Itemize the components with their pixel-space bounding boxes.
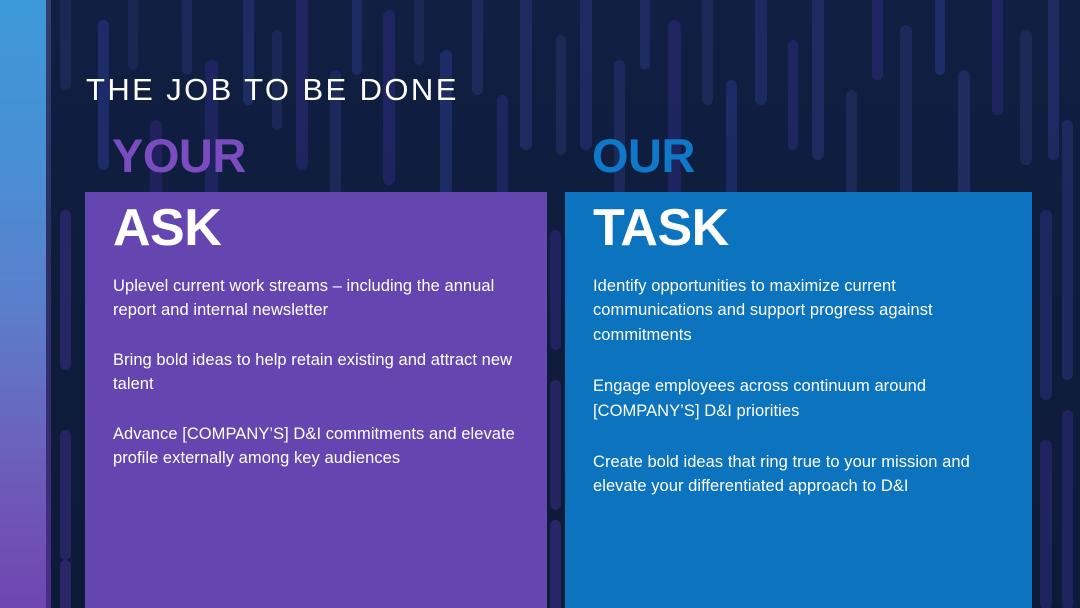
background-bar [497,95,508,200]
list-item: Bring bold ideas to help retain existing… [113,348,531,397]
background-bar [1062,120,1073,380]
background-bar [60,560,71,608]
task-bullet-list: Identify opportunities to maximize curre… [593,274,1016,526]
background-bar [550,230,561,350]
background-bar [182,0,192,75]
background-bar [556,35,566,155]
background-bar [128,0,138,70]
ask-bullet-list: Uplevel current work streams – including… [113,274,531,470]
background-bar [580,0,592,150]
background-bar [702,0,713,105]
left-brand-sidebar [0,0,46,608]
background-bar [1048,0,1059,160]
background-bar [640,0,650,70]
background-bar [352,0,362,75]
list-item: Advance [COMPANY’S] D&I commitments and … [113,422,531,471]
ask-panel-heading: ASK [113,200,221,257]
background-bar [60,0,71,90]
kicker-our: OUR [592,132,695,179]
background-bar [1020,30,1032,165]
background-bar [992,0,1003,115]
task-panel: TASK Identify opportunities to maximize … [565,192,1032,608]
page-title: THE JOB TO BE DONE [86,72,459,108]
background-bar [550,520,561,608]
list-item: Create bold ideas that ring true to your… [593,450,1016,499]
background-bar [414,0,424,65]
background-bar [1040,440,1052,608]
list-item: Uplevel current work streams – including… [113,274,531,323]
background-bar [812,0,824,160]
ask-panel: ASK Uplevel current work streams – inclu… [85,192,547,608]
slide-canvas: COMPANY|AGENCY 4 THE JOB TO BE DONE YOUR… [0,0,1080,608]
background-bar [935,0,945,75]
list-item: Identify opportunities to maximize curre… [593,274,1016,347]
background-bar [1040,210,1052,400]
background-bar [472,0,483,95]
background-bar [60,210,71,370]
background-bar [788,40,798,150]
background-bar [60,430,71,560]
background-bar [872,0,883,80]
list-item: Engage employees across continuum around… [593,374,1016,423]
background-bar [550,380,561,510]
background-bar [755,0,767,105]
background-bar [1062,410,1073,608]
kicker-your: YOUR [112,132,246,179]
background-bar [520,0,532,150]
sidebar-edge-shadow [46,0,51,608]
task-panel-heading: TASK [593,200,729,257]
